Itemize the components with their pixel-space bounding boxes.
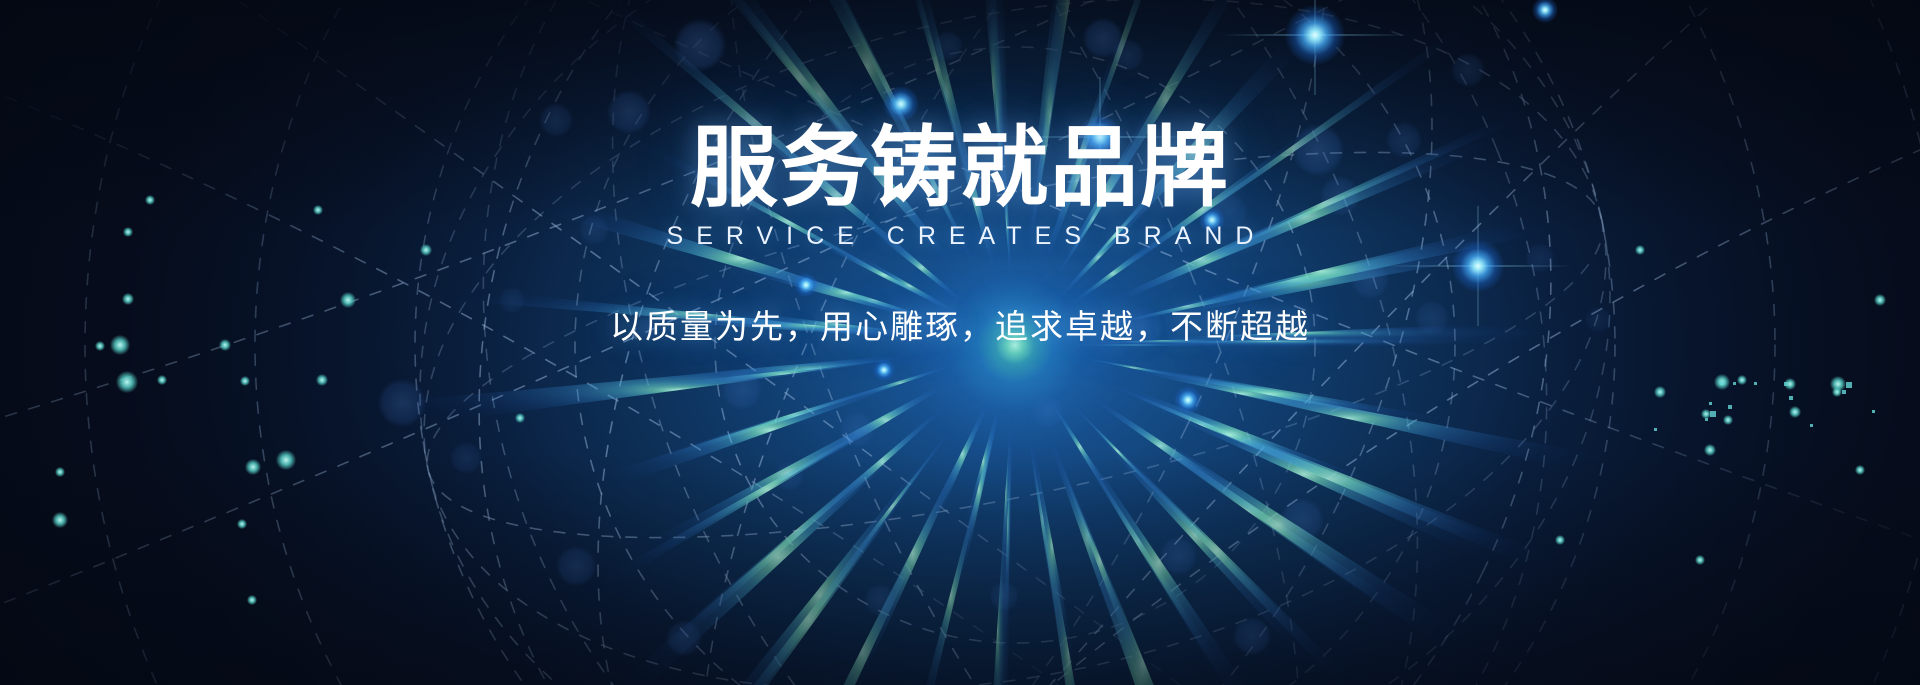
- banner-subtitle: SERVICE CREATES BRAND: [0, 222, 1920, 251]
- hero-banner: 服务铸就品牌 SERVICE CREATES BRAND 以质量为先，用心雕琢，…: [0, 0, 1920, 685]
- page-title: 服务铸就品牌: [0, 124, 1920, 212]
- banner-tagline: 以质量为先，用心雕琢，追求卓越，不断超越: [0, 300, 1920, 348]
